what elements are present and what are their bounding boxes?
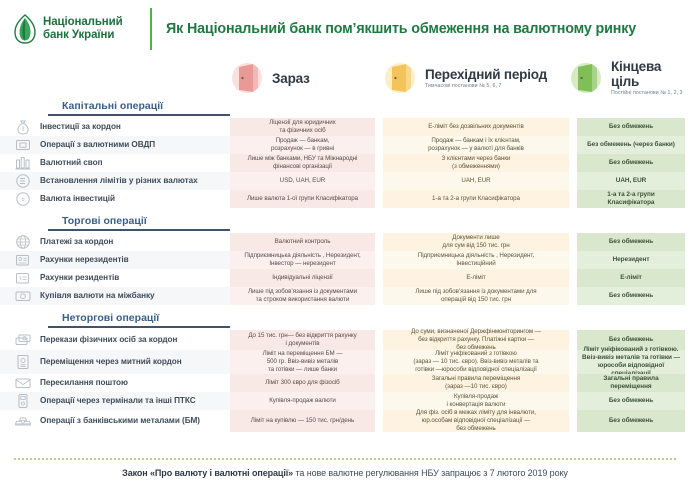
cell-transition: Ліміт уніфікований з готівкою(зараз — 10…	[383, 350, 569, 374]
cell-now: Лише між банками, НБУ та Міжнародніфінан…	[230, 154, 375, 172]
nbu-logo-text: Національний банк України	[43, 16, 123, 42]
section-rows: Перекази фізичних осіб за кордон До 15 т…	[0, 330, 690, 432]
cell-now: Підприємницька діяльність , Нерезидент,І…	[230, 251, 375, 269]
row-label-text: Перекази фізичних осіб за кордон	[40, 335, 177, 345]
cell-final: Е-ліміт	[577, 269, 685, 287]
row-label: $ Рахунки резидентів	[0, 269, 230, 287]
table-row: Платежі за кордон Валютний контроль Доку…	[0, 233, 690, 251]
row-label: Перекази фізичних осіб за кордон	[0, 330, 230, 350]
row-label-text: Переміщення через митний кордон	[40, 357, 182, 367]
door-icon-yellow	[383, 61, 417, 95]
row-label: Пересилання поштою	[0, 374, 230, 392]
table-row: Встановлення лімітів у різних валютах US…	[0, 172, 690, 190]
row-label: Рахунки нерезидентів	[0, 251, 230, 269]
cell-now: Продаж — банкам,розрахунок — в гривні	[230, 136, 375, 154]
cell-transition: Для фіз. осіб в межах ліміту для інвалют…	[383, 410, 569, 432]
sections-container: Капітальні операції $ Інвестиції за корд…	[0, 100, 690, 432]
cell-transition: Е-ліміт	[383, 269, 569, 287]
row-label: $ Інвестиції за кордон	[0, 118, 230, 136]
cell-transition: Підприємницька діяльність , Нерезидент,І…	[383, 251, 569, 269]
table-row: Операції з валютними ОВДП Продаж — банка…	[0, 136, 690, 154]
table-row: Операції через термінали та інші ПТКС Ку…	[0, 392, 690, 410]
section-title: Капітальні операції	[0, 100, 690, 113]
cell-transition: 1-а та 2-а групи Класифікатора	[383, 190, 569, 208]
table-row: $ Рахунки резидентів Індивідуальні ліцен…	[0, 269, 690, 287]
header-divider	[150, 8, 152, 50]
section-rows: $ Інвестиції за кордон Ліцензії для юрид…	[0, 118, 690, 208]
footer-text: Закон «Про валюту і валютні операції» та…	[122, 468, 568, 478]
cell-transition: Лише під зобов’язання із документами для…	[383, 287, 569, 305]
cell-final: Без обмежень	[577, 410, 685, 432]
column-title: Кінцева ціль	[611, 59, 690, 89]
cell-now: Ліміт на переміщення БМ —500 гр. Ввіз-ви…	[230, 350, 375, 374]
table-row: Рахунки нерезидентів Підприємницька діял…	[0, 251, 690, 269]
atm-terminal-icon	[14, 392, 32, 410]
row-label: Валютний своп	[0, 154, 230, 172]
globe-icon	[14, 233, 32, 251]
logo-line-1: Національний	[43, 16, 123, 29]
row-label-text: Операції з валютними ОВДП	[40, 140, 155, 150]
cell-now: USD, UAH, EUR	[230, 172, 375, 190]
door-icon-red	[230, 61, 264, 95]
page-title: Як Національний банк пом’якшить обмеженн…	[166, 21, 636, 37]
cell-final: UAH, EUR	[577, 172, 685, 190]
footer-dotted-rule	[14, 458, 676, 460]
passport-icon	[14, 353, 32, 371]
row-label: ¤ Валюта інвестицій	[0, 190, 230, 208]
table-row: Валютний своп Лише між банками, НБУ та М…	[0, 154, 690, 172]
cell-transition: UAH, EUR	[383, 172, 569, 190]
column-headers: Зараз Перехідний період Тимчасові постан…	[0, 58, 690, 98]
row-label-text: Інвестиції за кордон	[40, 122, 121, 132]
column-title: Перехідний період	[425, 67, 547, 82]
footer-law-name: Закон «Про валюту і валютні операції»	[122, 468, 293, 478]
cell-now: Лише під зобов’язання із документамита с…	[230, 287, 375, 305]
cell-final: Без обмежень	[577, 233, 685, 251]
gold-bars-icon	[14, 412, 32, 430]
coin-stack-icon	[14, 172, 32, 190]
row-label-text: Купівля валюти на міжбанку	[40, 291, 155, 301]
infographic-page: Національний банк України Як Національни…	[0, 0, 690, 488]
row-label: Платежі за кордон	[0, 233, 230, 251]
cell-final: Без обмежень	[577, 154, 685, 172]
row-label-text: Рахунки нерезидентів	[40, 255, 129, 265]
row-label-text: Пересилання поштою	[40, 378, 128, 388]
cell-now: Ліміт 300 євро для фізосіб	[230, 374, 375, 392]
row-label: Встановлення лімітів у різних валютах	[0, 172, 230, 190]
section-title: Неторгові операції	[0, 312, 690, 325]
svg-text:$: $	[19, 276, 22, 281]
row-label-text: Операції з банківськими металами (БМ)	[40, 416, 200, 426]
cell-final: Без обмежень (через банки)	[577, 136, 685, 154]
table-row: Купівля валюти на міжбанку Лише під зобо…	[0, 287, 690, 305]
cell-now: Валютний контроль	[230, 233, 375, 251]
cell-now: Купівля-продаж валюти	[230, 392, 375, 410]
cell-now: Ліміт на купівлю — 150 тис. грн/день	[230, 410, 375, 432]
cell-transition: Продаж — банкам і їх клієнтам,розрахунок…	[383, 136, 569, 154]
document-card-icon	[14, 251, 32, 269]
section-title: Торгові операції	[0, 215, 690, 228]
section-2: Неторгові операції Перекази фізичних осі…	[0, 312, 690, 432]
column-header-fin: Кінцева ціль Постійні постанови № 1, 2, …	[569, 58, 690, 98]
section-rule	[48, 326, 230, 328]
nbu-logo: Національний банк України	[0, 14, 150, 44]
cell-transition: З клієнтами через банки(з обмеженнями)	[383, 154, 569, 172]
row-label-text: Операції через термінали та інші ПТКС	[40, 396, 196, 406]
page-header: Національний банк України Як Національни…	[0, 0, 690, 58]
table-row: ¤ Валюта інвестицій Лише валюта 1-ої гру…	[0, 190, 690, 208]
cell-final: Ліміт уніфікований з готівкою.Ввіз-вивіз…	[577, 350, 685, 374]
nbu-logo-icon	[14, 14, 36, 44]
money-bag-icon: $	[14, 118, 32, 136]
cell-final: Без обмежень	[577, 392, 685, 410]
cell-now: Індивідуальні ліцензії	[230, 269, 375, 287]
bar-chart-icon	[14, 154, 32, 172]
table-row: $ Інвестиції за кордон Ліцензії для юрид…	[0, 118, 690, 136]
row-label: Операції через термінали та інші ПТКС	[0, 392, 230, 410]
row-label: Операції з валютними ОВДП	[0, 136, 230, 154]
cell-now: Лише валюта 1-ої групи Класифікатора	[230, 190, 375, 208]
column-header-now: Зараз	[230, 58, 310, 98]
currency-circle-icon: ¤	[14, 190, 32, 208]
cell-transition: Загальні правила переміщення(зараз —10 т…	[383, 374, 569, 392]
envelope-icon	[14, 374, 32, 392]
footer-rest: та нове валютне регулювання НБУ запрацює…	[293, 468, 568, 478]
cell-transition: Купівля-продажі конвертація валюти	[383, 392, 569, 410]
money-transfer-icon	[14, 331, 32, 349]
row-label: Операції з банківськими металами (БМ)	[0, 410, 230, 432]
logo-line-2: банк України	[43, 29, 123, 42]
door-icon-green	[569, 61, 603, 95]
cell-final: Загальні правилапереміщення	[577, 374, 685, 392]
bank-note-icon	[14, 136, 32, 154]
svg-text:$: $	[22, 127, 25, 133]
row-label-text: Встановлення лімітів у різних валютах	[40, 176, 198, 186]
table-row: Переміщення через митний кордон Ліміт на…	[0, 350, 690, 374]
row-label: Переміщення через митний кордон	[0, 350, 230, 374]
section-rows: Платежі за кордон Валютний контроль Доку…	[0, 233, 690, 305]
column-header-mid: Перехідний період Тимчасові постанови № …	[383, 58, 547, 98]
row-label-text: Валюта інвестицій	[40, 194, 115, 204]
row-label: Купівля валюти на міжбанку	[0, 287, 230, 305]
table-row: Операції з банківськими металами (БМ) Лі…	[0, 410, 690, 432]
table-row: Пересилання поштою Ліміт 300 євро для фі…	[0, 374, 690, 392]
cell-final: 1-а та 2-а групиКласифікатора	[577, 190, 685, 208]
row-label-text: Валютний своп	[40, 158, 103, 168]
column-subtitle: Постійні постанови № 1, 2, 3	[611, 89, 690, 97]
column-subtitle: Тимчасові постанови № 5, 6, 7	[425, 82, 547, 90]
cell-final: Нерезидент	[577, 251, 685, 269]
cell-transition: Е-ліміт без дозвільних документів	[383, 118, 569, 136]
section-rule	[48, 114, 230, 116]
cell-now: До 15 тис. грн— без відкриття рахункуі д…	[230, 330, 375, 350]
row-label-text: Платежі за кордон	[40, 237, 113, 247]
footer-bar: Закон «Про валюту і валютні операції» та…	[0, 458, 690, 488]
cell-final: Без обмежень	[577, 287, 685, 305]
section-0: Капітальні операції $ Інвестиції за корд…	[0, 100, 690, 208]
section-rule	[48, 229, 230, 231]
cell-final: Без обмежень	[577, 118, 685, 136]
exchange-icon	[14, 287, 32, 305]
svg-text:¤: ¤	[21, 197, 24, 203]
cell-transition: До суми, визначеної Держфінмоніторингом …	[383, 330, 569, 350]
column-title: Зараз	[272, 71, 310, 86]
cell-now: Ліцензії для юридичнихта фізичних осіб	[230, 118, 375, 136]
cell-transition: Документи лишедля сум від 150 тис. грн	[383, 233, 569, 251]
receipt-icon: $	[14, 269, 32, 287]
section-1: Торгові операції Платежі за кордон Валют…	[0, 215, 690, 305]
row-label-text: Рахунки резидентів	[40, 273, 119, 283]
